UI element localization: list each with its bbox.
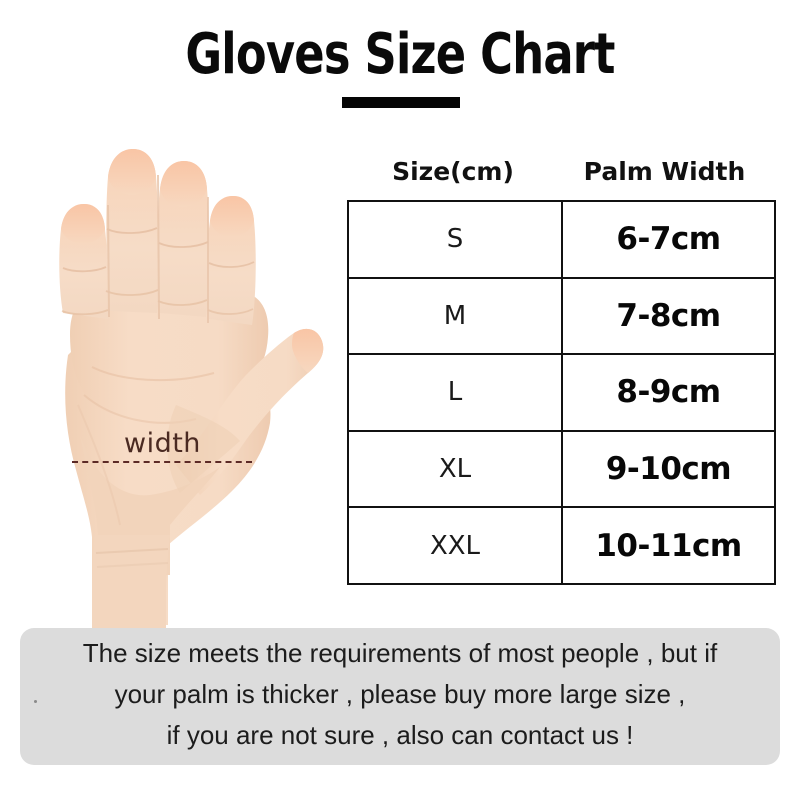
size-chart-table-body: S 6-7cm M 7-8cm L 8-9cm XL 9-10cm XXL 10… bbox=[348, 201, 775, 584]
cell-palm-width: 10-11cm bbox=[562, 507, 775, 584]
hand-illustration: width bbox=[0, 105, 340, 645]
cell-palm-width: 9-10cm bbox=[562, 431, 775, 508]
hand-svg bbox=[0, 105, 340, 645]
notice-line-2: your palm is thicker , please buy more l… bbox=[115, 674, 686, 715]
column-header-size: Size(cm) bbox=[347, 155, 559, 189]
cell-palm-width: 8-9cm bbox=[562, 354, 775, 431]
table-row: L 8-9cm bbox=[348, 354, 775, 431]
table-row: M 7-8cm bbox=[348, 278, 775, 355]
cell-size: S bbox=[348, 201, 562, 278]
cell-size: M bbox=[348, 278, 562, 355]
table-row: XL 9-10cm bbox=[348, 431, 775, 508]
notice-stray-dot bbox=[34, 700, 37, 703]
cell-size: XL bbox=[348, 431, 562, 508]
cell-size: L bbox=[348, 354, 562, 431]
notice-line-3: if you are not sure , also can contact u… bbox=[167, 715, 634, 756]
palm-width-measure-label: width bbox=[124, 430, 201, 457]
notice-line-1: The size meets the requirements of most … bbox=[83, 633, 717, 674]
cell-palm-width: 7-8cm bbox=[562, 278, 775, 355]
size-chart-page: Gloves Size Chart bbox=[0, 0, 800, 800]
page-title: Gloves Size Chart bbox=[80, 26, 720, 85]
size-chart-table: S 6-7cm M 7-8cm L 8-9cm XL 9-10cm XXL 10… bbox=[347, 200, 776, 585]
cell-size: XXL bbox=[348, 507, 562, 584]
notice-box: The size meets the requirements of most … bbox=[20, 628, 780, 765]
cell-palm-width: 6-7cm bbox=[562, 201, 775, 278]
table-row: XXL 10-11cm bbox=[348, 507, 775, 584]
palm-width-dashed-line bbox=[72, 461, 252, 463]
table-row: S 6-7cm bbox=[348, 201, 775, 278]
title-underline-bar bbox=[342, 97, 460, 108]
column-header-palm-width: Palm Width bbox=[559, 155, 770, 189]
